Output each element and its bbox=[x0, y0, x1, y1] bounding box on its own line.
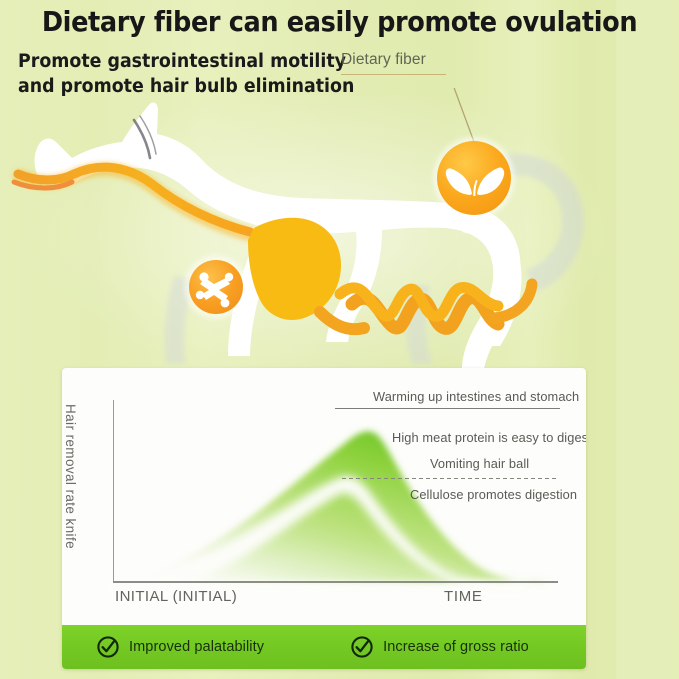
dietary-fiber-callout-label: Dietary fiber bbox=[341, 51, 426, 69]
chart-y-axis-label: Hair removal rate knife bbox=[63, 404, 78, 574]
stomach bbox=[248, 218, 341, 320]
chart-y-axis bbox=[113, 400, 114, 582]
benefits-bar: Improved palatability Increase of gross … bbox=[62, 625, 586, 669]
annotation-leader-line-solid bbox=[335, 408, 560, 409]
page-title: Dietary fiber can easily promote ovulati… bbox=[24, 6, 655, 38]
chart-x-origin-label: INITIAL (INITIAL) bbox=[115, 588, 237, 605]
callout-underline bbox=[341, 74, 446, 75]
chart-series-upper bbox=[122, 431, 550, 582]
benefit-item: Increase of gross ratio bbox=[350, 635, 529, 659]
chart-annotation-2: Vomiting hair ball bbox=[430, 456, 529, 471]
cat-digestive-tract-diagram bbox=[0, 88, 679, 378]
benefit-label: Increase of gross ratio bbox=[383, 639, 529, 655]
check-circle-icon bbox=[350, 635, 374, 659]
check-circle-icon bbox=[96, 635, 120, 659]
chart-annotation-0: Warming up intestines and stomach bbox=[373, 389, 579, 404]
sprout-leaf-badge bbox=[433, 137, 515, 219]
infographic-canvas: Dietary fiber can easily promote ovulati… bbox=[0, 0, 679, 679]
chart-annotation-1: High meat protein is easy to digest bbox=[392, 430, 586, 445]
benefit-label: Improved palatability bbox=[129, 639, 264, 655]
benefit-item: Improved palatability bbox=[96, 635, 264, 659]
annotation-leader-line-dashed bbox=[342, 478, 557, 479]
chart-card: Hair removal rate knife INITIAL (INITIAL… bbox=[62, 368, 586, 669]
molecule-badge bbox=[184, 255, 248, 319]
chart-x-axis bbox=[113, 581, 558, 583]
chart-x-axis-label: TIME bbox=[444, 588, 483, 605]
chart-annotation-3: Cellulose promotes digestion bbox=[410, 487, 577, 502]
